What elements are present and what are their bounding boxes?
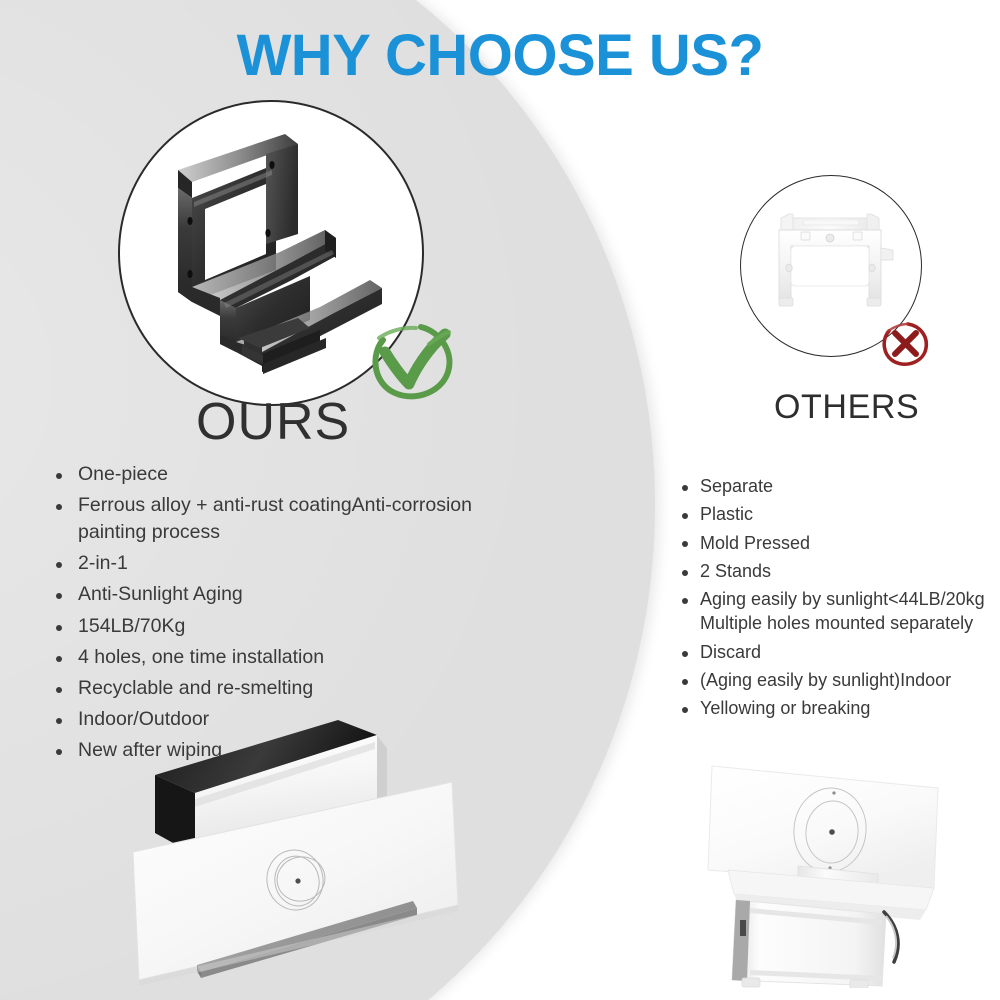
page-title: WHY CHOOSE US? (0, 22, 1000, 89)
bullet-dot (682, 598, 688, 604)
list-item: 2-in-1 (44, 550, 504, 577)
others-bottom-photo (690, 748, 945, 988)
bullet-dot (682, 651, 688, 657)
bullet-dot (56, 625, 62, 631)
list-item: (Aging easily by sunlight)Indoor (672, 668, 994, 692)
bullet-dot (56, 473, 62, 479)
list-item: Aging easily by sunlight<44LB/20kg (672, 587, 994, 611)
bullet-dot (56, 718, 62, 724)
bullet-dot (682, 485, 688, 491)
list-item-text: 2 Stands (700, 561, 771, 581)
comparison-infographic: WHY CHOOSE US? (0, 0, 1000, 1000)
list-item-text: Yellowing or breaking (700, 698, 870, 718)
others-feature-list: Separate Plastic Mold Pressed 2 Stands A… (672, 474, 994, 725)
list-item-text: Anti-Sunlight Aging (78, 583, 243, 605)
list-item: 154LB/70Kg (44, 613, 504, 640)
list-item-text: Recyclable and re-smelting (78, 677, 313, 699)
cross-mark-icon (880, 318, 930, 368)
bullet-dot (682, 707, 688, 713)
list-item: Plastic (672, 502, 994, 526)
bullet-dot (56, 504, 62, 510)
list-item: Discard (672, 640, 994, 664)
list-item: Ferrous alloy + anti-rust coatingAnti-co… (44, 492, 504, 519)
list-item: Mold Pressed (672, 531, 994, 555)
list-item: One-piece (44, 461, 504, 488)
bullet-dot (682, 570, 688, 576)
list-item-text: One-piece (78, 463, 168, 485)
list-item-text: Multiple holes mounted separately (700, 613, 973, 633)
bullet-dot (56, 749, 62, 755)
bullet-dot (56, 687, 62, 693)
check-mark-icon (369, 318, 455, 404)
list-item-text: 4 holes, one time installation (78, 646, 324, 668)
others-mounted-device-illustration (690, 748, 945, 988)
list-item-text: Ferrous alloy + anti-rust coatingAnti-co… (78, 494, 472, 516)
list-item: Recyclable and re-smelting (44, 675, 504, 702)
list-item: Anti-Sunlight Aging (44, 581, 504, 608)
list-item-text: Plastic (700, 504, 753, 524)
ours-label: OURS (196, 392, 350, 452)
bullet-dot (682, 541, 688, 547)
list-item-text: 2-in-1 (78, 552, 128, 574)
list-item-text: 154LB/70Kg (78, 615, 185, 637)
list-item: Separate (672, 474, 994, 498)
list-item-text: Separate (700, 476, 773, 496)
bullet-dot (682, 679, 688, 685)
ours-bottom-photo (125, 715, 485, 990)
list-item-text: (Aging easily by sunlight)Indoor (700, 670, 951, 690)
list-item-continuation: painting process (44, 519, 504, 546)
others-label: OTHERS (774, 388, 919, 427)
list-item-text: painting process (78, 521, 220, 543)
ours-mounted-device-illustration (125, 715, 485, 990)
list-item-continuation: Multiple holes mounted separately (672, 611, 994, 635)
bullet-dot (682, 513, 688, 519)
bullet-dot (56, 593, 62, 599)
list-item-text: Discard (700, 642, 761, 662)
bullet-dot (56, 562, 62, 568)
bullet-dot (56, 656, 62, 662)
list-item: 2 Stands (672, 559, 994, 583)
list-item-text: Aging easily by sunlight<44LB/20kg (700, 589, 985, 609)
list-item: 4 holes, one time installation (44, 644, 504, 671)
list-item-text: Mold Pressed (700, 533, 810, 553)
list-item: Yellowing or breaking (672, 696, 994, 720)
